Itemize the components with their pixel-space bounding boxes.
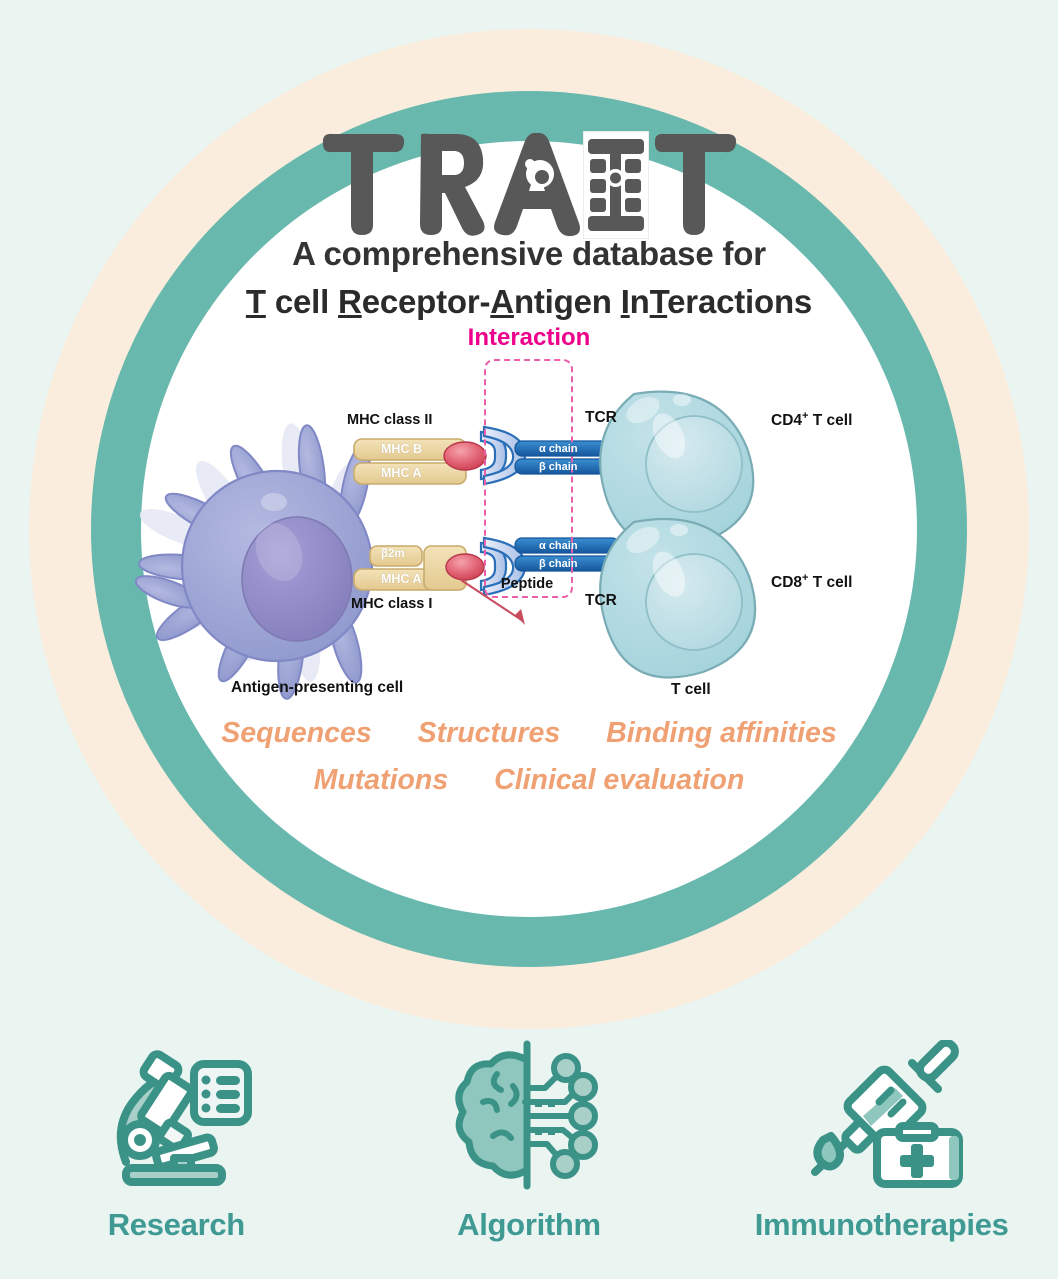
keyword-row-2: Mutations Clinical evaluation bbox=[29, 761, 1029, 799]
keyword-mutations: Mutations bbox=[314, 761, 449, 799]
peptide-graphic-upper bbox=[444, 442, 486, 470]
logo-letter-a-cell-icon bbox=[491, 131, 583, 239]
beta-chain-label-upper: β chain bbox=[539, 461, 578, 473]
panel-item-immunotherapies[interactable]: Immunotherapies bbox=[712, 1035, 1052, 1243]
mhc-a-label-class-i: MHC A bbox=[381, 572, 422, 586]
subtitle-text-eceptor: eceptor- bbox=[362, 283, 491, 320]
syringe-medkit-icon bbox=[712, 1035, 1052, 1195]
keyword-binding-affinities: Binding affinities bbox=[606, 714, 837, 752]
keyword-list: Sequences Structures Binding affinities … bbox=[29, 714, 1029, 800]
acronym-letter-a: A bbox=[490, 283, 514, 320]
antigen-presenting-cell-label: Antigen-presenting cell bbox=[231, 679, 403, 697]
mhc-class-i-label: MHC class I bbox=[351, 596, 432, 612]
panel-label-research: Research bbox=[6, 1207, 346, 1243]
cd8-suffix: T cell bbox=[808, 574, 852, 591]
beta-2-microglobulin-label: β2m bbox=[381, 548, 405, 560]
subtitle-text-eractions: eractions bbox=[667, 283, 812, 320]
subtitle-text-n: n bbox=[630, 283, 650, 320]
logo-letter-t-1 bbox=[317, 131, 409, 239]
keyword-row-1: Sequences Structures Binding affinities bbox=[29, 714, 1029, 752]
antigen-presenting-cell-graphic bbox=[132, 421, 375, 700]
cd4-suffix: T cell bbox=[808, 412, 852, 429]
alpha-chain-label-upper: α chain bbox=[539, 443, 578, 455]
cd8-text: CD8 bbox=[771, 574, 802, 591]
peptide-label: Peptide bbox=[484, 576, 570, 592]
logo-letter-i-structure-icon bbox=[583, 131, 649, 239]
panel-label-immunotherapies: Immunotherapies bbox=[712, 1207, 1052, 1243]
tcr-label-upper: TCR bbox=[585, 409, 617, 427]
panel-label-algorithm: Algorithm bbox=[359, 1207, 699, 1243]
beta-chain-label-lower: β chain bbox=[539, 558, 578, 570]
cd8-t-cell-graphic bbox=[600, 519, 755, 677]
keyword-clinical-evaluation: Clinical evaluation bbox=[494, 761, 744, 799]
subtitle-text-cell: cell bbox=[266, 283, 338, 320]
cd4-text: CD4 bbox=[771, 412, 802, 429]
mhc-class-ii-label: MHC class II bbox=[347, 412, 432, 428]
trait-logo bbox=[29, 129, 1029, 239]
t-cell-label: T cell bbox=[671, 681, 711, 699]
mhc-b-label: MHC B bbox=[381, 442, 422, 456]
keyword-sequences: Sequences bbox=[221, 714, 372, 752]
acronym-letter-i: I bbox=[621, 283, 630, 320]
acronym-letter-t1: T bbox=[246, 283, 266, 320]
tcr-label-lower: TCR bbox=[585, 592, 617, 610]
subtitle-text-ntigen: ntigen bbox=[514, 283, 621, 320]
cd4-t-cell-label: CD4+ T cell bbox=[771, 410, 852, 430]
mhc-a-label-class-ii: MHC A bbox=[381, 466, 422, 480]
hero-circle: A comprehensive database for T cell Rece… bbox=[29, 29, 1029, 1029]
subtitle-line-1: A comprehensive database for bbox=[29, 235, 1029, 273]
alpha-chain-label-lower: α chain bbox=[539, 540, 578, 552]
microscope-icon bbox=[6, 1035, 346, 1195]
acronym-letter-r: R bbox=[338, 283, 362, 320]
ai-brain-icon bbox=[359, 1035, 699, 1195]
logo-letter-t-2 bbox=[649, 131, 741, 239]
tcr-antigen-interaction-diagram: Interaction bbox=[29, 324, 1029, 724]
subtitle-line-2: T cell Receptor-Antigen InTeractions bbox=[29, 283, 1029, 321]
panel-item-algorithm[interactable]: Algorithm bbox=[359, 1035, 699, 1243]
peptide-graphic-lower bbox=[446, 554, 484, 580]
acronym-letter-t2: T bbox=[650, 283, 668, 320]
application-panel: Research bbox=[0, 1035, 1058, 1279]
keyword-structures: Structures bbox=[418, 714, 561, 752]
panel-item-research[interactable]: Research bbox=[6, 1035, 346, 1243]
logo-letter-r bbox=[409, 131, 491, 239]
cd8-t-cell-label: CD8+ T cell bbox=[771, 572, 852, 592]
